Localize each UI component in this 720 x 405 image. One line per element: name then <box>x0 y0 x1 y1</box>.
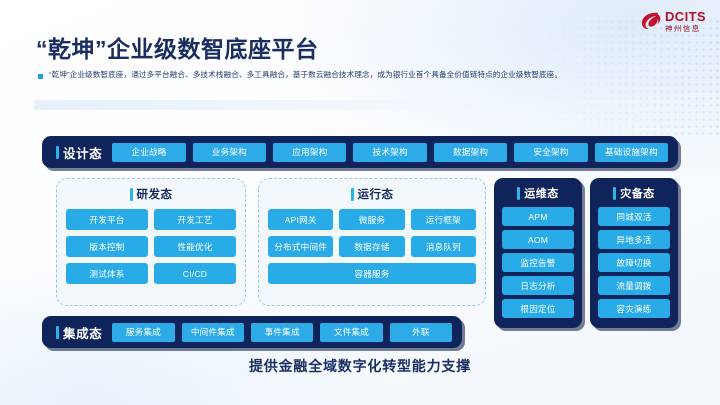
integration-chip-file-integration[interactable]: 文件集成 <box>320 323 382 342</box>
dr-tile-traffic-scheduling[interactable]: 流量调拨 <box>598 276 670 295</box>
runtime-tile-distributed-middleware[interactable]: 分布式中间件 <box>268 236 333 257</box>
ops-tile-apm[interactable]: APM <box>502 207 574 226</box>
rd-state-panel: 研发态 开发平台 开发工艺 版本控制 性能优化 测试体系 CI/CD <box>56 178 246 306</box>
ops-tile-aom[interactable]: AOM <box>502 230 574 249</box>
dr-state-title-label: 灾备态 <box>620 185 655 201</box>
rd-tile-dev-platform[interactable]: 开发平台 <box>66 209 148 230</box>
design-chip-technology-architecture[interactable]: 技术架构 <box>353 143 426 162</box>
rd-state-title-label: 研发态 <box>137 186 173 202</box>
footer-tagline: 提供金融全域数字化转型能力支撑 <box>0 356 720 376</box>
runtime-tile-container-service[interactable]: 容器服务 <box>268 263 476 284</box>
runtime-tile-data-storage[interactable]: 数据存储 <box>339 236 404 257</box>
subtitle-row: “乾坤”企业级数智底座，通过多平台融合、多技术栈融合、多工具融合，基于数云融合技… <box>38 70 562 80</box>
rd-tile-dev-process[interactable]: 开发工艺 <box>154 209 236 230</box>
brand-wordmark: DCITS 神州信息 <box>665 10 706 33</box>
ops-tile-monitoring-alerts[interactable]: 监控告警 <box>502 253 574 272</box>
runtime-state-panel: 运行态 API网关 微服务 运行框架 分布式中间件 数据存储 消息队列 容器服务 <box>258 178 486 306</box>
brand-logo: DCITS 神州信息 <box>639 10 706 33</box>
integration-state-title-label: 集成态 <box>63 323 102 342</box>
rd-state-title: 研发态 <box>66 186 236 202</box>
integration-chip-event-integration[interactable]: 事件集成 <box>251 323 313 342</box>
integration-chip-external-connection[interactable]: 外联 <box>390 323 452 342</box>
design-state-band[interactable]: 设计态 企业战略 业务架构 应用架构 技术架构 数据架构 安全架构 基础设施架构 <box>42 136 678 168</box>
design-chip-application-architecture[interactable]: 应用架构 <box>273 143 346 162</box>
ops-state-column: 运维态 APM AOM 监控告警 日志分析 根因定位 <box>494 178 582 328</box>
page-title: “乾坤”企业级数智底座平台 <box>36 30 319 64</box>
platform-architecture-diagram: 设计态 企业战略 业务架构 应用架构 技术架构 数据架构 安全架构 基础设施架构… <box>42 136 678 348</box>
dr-tile-dr-drill[interactable]: 容灾演练 <box>598 299 670 318</box>
integration-chip-middleware-integration[interactable]: 中间件集成 <box>182 323 244 342</box>
dr-state-title: 灾备态 <box>598 185 670 201</box>
accent-tick-icon <box>130 188 133 201</box>
rd-tile-test-system[interactable]: 测试体系 <box>66 263 148 284</box>
dcits-swirl-logo-icon <box>639 10 661 32</box>
accent-tick-icon <box>517 187 520 200</box>
ops-state-title-label: 运维态 <box>524 185 559 201</box>
design-state-items: 企业战略 业务架构 应用架构 技术架构 数据架构 安全架构 基础设施架构 <box>112 143 668 162</box>
runtime-state-title: 运行态 <box>268 186 476 202</box>
design-chip-business-architecture[interactable]: 业务架构 <box>193 143 266 162</box>
bullet-square-icon <box>38 74 43 79</box>
runtime-tile-runtime-framework[interactable]: 运行框架 <box>411 209 476 230</box>
dr-tile-failover[interactable]: 故障切换 <box>598 253 670 272</box>
rd-tile-cicd[interactable]: CI/CD <box>154 263 236 284</box>
rd-state-items: 开发平台 开发工艺 版本控制 性能优化 测试体系 CI/CD <box>66 209 236 284</box>
dr-tile-same-city-active-active[interactable]: 同城双活 <box>598 207 670 226</box>
design-state-title-label: 设计态 <box>63 143 102 162</box>
runtime-tile-microservices[interactable]: 微服务 <box>339 209 404 230</box>
design-chip-enterprise-strategy[interactable]: 企业战略 <box>112 143 185 162</box>
ops-state-items: APM AOM 监控告警 日志分析 根因定位 <box>502 207 574 318</box>
ops-tile-root-cause-analysis[interactable]: 根因定位 <box>502 299 574 318</box>
disaster-recovery-state-column: 灾备态 同城双活 异地多活 故障切换 流量调拨 容灾演练 <box>590 178 678 328</box>
dr-state-items: 同城双活 异地多活 故障切换 流量调拨 容灾演练 <box>598 207 670 318</box>
subtitle-text: “乾坤”企业级数智底座，通过多平台融合、多技术栈融合、多工具融合，基于数云融合技… <box>49 70 562 80</box>
brand-name-cn: 神州信息 <box>665 25 706 33</box>
runtime-state-title-label: 运行态 <box>358 186 394 202</box>
accent-tick-icon <box>613 187 616 200</box>
integration-chip-service-integration[interactable]: 服务集成 <box>112 323 174 342</box>
rd-tile-version-control[interactable]: 版本控制 <box>66 236 148 257</box>
ops-state-title: 运维态 <box>502 185 574 201</box>
design-chip-data-architecture[interactable]: 数据架构 <box>434 143 507 162</box>
design-chip-security-architecture[interactable]: 安全架构 <box>514 143 587 162</box>
accent-tick-icon <box>56 146 59 159</box>
background-band <box>34 100 694 110</box>
ops-tile-log-analysis[interactable]: 日志分析 <box>502 276 574 295</box>
rd-tile-performance-optimization[interactable]: 性能优化 <box>154 236 236 257</box>
design-state-title: 设计态 <box>52 143 112 162</box>
accent-tick-icon <box>56 326 59 339</box>
integration-state-title: 集成态 <box>52 323 112 342</box>
dr-tile-multi-region-active[interactable]: 异地多活 <box>598 230 670 249</box>
integration-state-items: 服务集成 中间件集成 事件集成 文件集成 外联 <box>112 323 452 342</box>
design-chip-infrastructure-architecture[interactable]: 基础设施架构 <box>595 143 668 162</box>
integration-state-band[interactable]: 集成态 服务集成 中间件集成 事件集成 文件集成 外联 <box>42 316 462 348</box>
runtime-state-items: API网关 微服务 运行框架 分布式中间件 数据存储 消息队列 容器服务 <box>268 209 476 284</box>
brand-name-en: DCITS <box>665 10 706 23</box>
runtime-tile-api-gateway[interactable]: API网关 <box>268 209 333 230</box>
runtime-tile-message-queue[interactable]: 消息队列 <box>411 236 476 257</box>
accent-tick-icon <box>351 188 354 201</box>
